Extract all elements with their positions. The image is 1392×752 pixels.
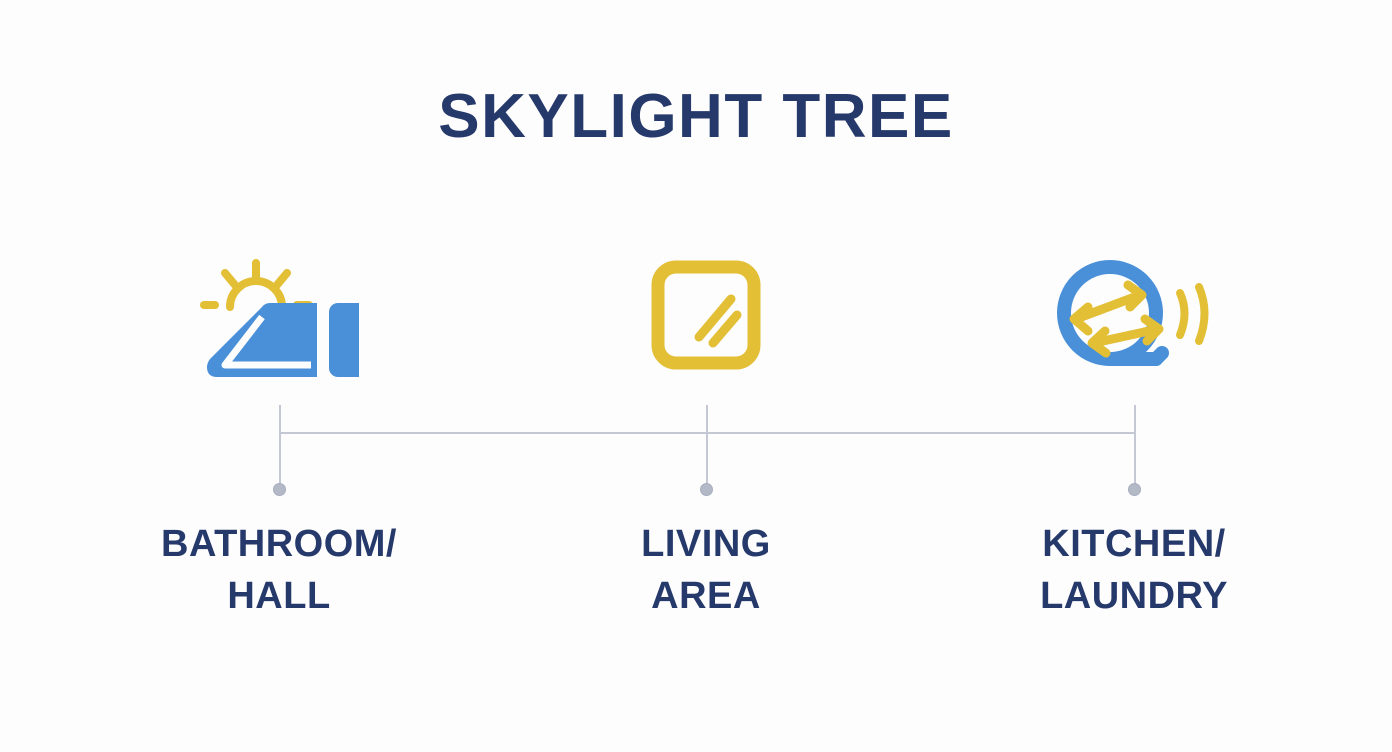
branch-label-kitchen-laundry: KITCHEN/ LAUNDRY	[974, 518, 1294, 623]
node-dot-3	[1128, 483, 1141, 496]
skylight-sun-icon	[119, 240, 439, 390]
branch-label-living-area: LIVING AREA	[546, 518, 866, 623]
diagram-canvas: SKYLIGHT TREE	[0, 0, 1392, 752]
window-pane-shine-icon	[546, 240, 866, 390]
branch-label-line2: AREA	[546, 570, 866, 622]
branch-label-line1: BATHROOM/	[161, 523, 397, 565]
branch-living-area: LIVING AREA	[546, 240, 866, 390]
branch-label-line1: KITCHEN/	[1042, 523, 1225, 565]
branch-label-line2: HALL	[119, 570, 439, 622]
connector-stem-1	[279, 405, 281, 489]
branch-kitchen-laundry: KITCHEN/ LAUNDRY	[974, 240, 1294, 390]
connector-stem-2	[706, 405, 708, 489]
node-dot-2	[700, 483, 713, 496]
branch-label-line2: LAUNDRY	[974, 570, 1294, 622]
ventilation-airflow-icon	[974, 240, 1294, 390]
node-dot-1	[273, 483, 286, 496]
branch-label-line1: LIVING	[641, 523, 771, 565]
connector-stem-3	[1134, 405, 1136, 489]
branch-bathroom-hall: BATHROOM/ HALL	[119, 240, 439, 390]
page-title: SKYLIGHT TREE	[0, 86, 1392, 148]
branch-label-bathroom-hall: BATHROOM/ HALL	[119, 518, 439, 623]
